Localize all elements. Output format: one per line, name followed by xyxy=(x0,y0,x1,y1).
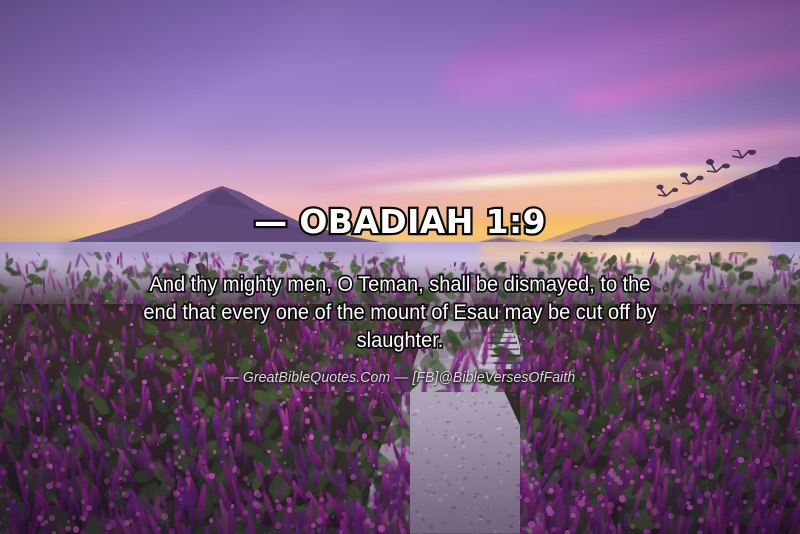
verse-image-canvas: — OBADIAH 1:9 And thy mighty men, O Tema… xyxy=(0,0,800,534)
flower-field-right xyxy=(520,252,800,534)
flower-field-left xyxy=(0,252,410,534)
